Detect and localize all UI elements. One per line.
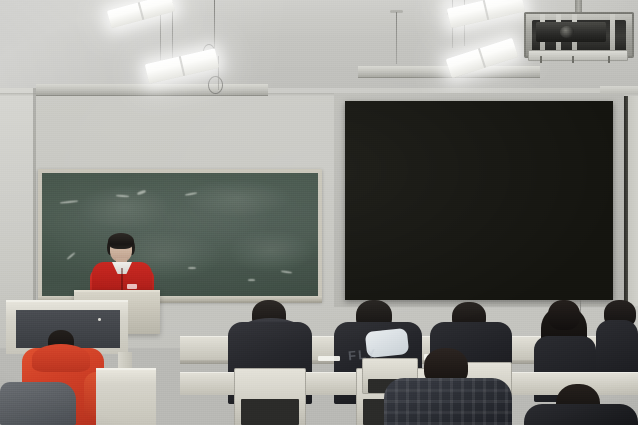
projector-screw-1	[540, 56, 542, 63]
light-hanger-4	[218, 56, 219, 90]
presenter-hair	[108, 233, 134, 249]
projector-screw-2	[572, 56, 574, 63]
blackboard	[42, 173, 318, 296]
projector-base-plate	[528, 50, 628, 61]
door-panel	[628, 96, 638, 306]
projector-screw-3	[608, 56, 610, 63]
student-front-plaid	[384, 378, 512, 425]
student-backpack	[0, 382, 76, 425]
presenter-jacket-badge	[127, 284, 137, 289]
front-left-desk	[96, 368, 156, 425]
light-rail-left	[36, 84, 268, 96]
classroom-photo: CONTENT 整体介绍 部分详讲 饮食安全须知	[0, 0, 638, 425]
student-long-hair-head	[548, 300, 580, 330]
light-hanger-3	[214, 0, 215, 48]
desk-paper-1	[318, 356, 340, 361]
desk-divider-dot	[98, 318, 101, 321]
light-hanger-5	[396, 12, 397, 64]
student-chairs	[234, 368, 306, 425]
door-header-trim	[600, 86, 638, 94]
student-left-red-jacket-hood	[32, 344, 90, 372]
student-front-right	[524, 404, 638, 425]
projection-screen-border: CONTENT 整体介绍 部分详讲 饮食安全须知	[345, 101, 613, 300]
cable-loop-2	[208, 76, 223, 94]
projector-lens-icon	[560, 26, 574, 38]
